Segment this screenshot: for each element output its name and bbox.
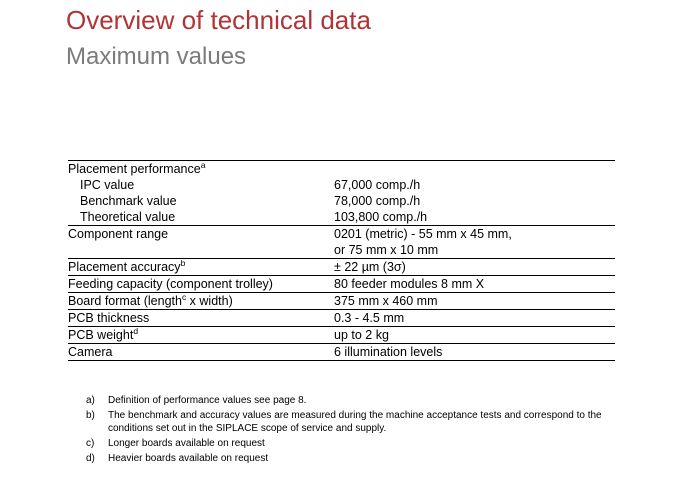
table-cell-value: ± 22 µm (3σ) xyxy=(334,259,615,276)
footnote-marker: c) xyxy=(86,437,108,450)
table-row: PCB thickness 0.3 - 4.5 mm xyxy=(68,310,615,327)
document-page: Overview of technical data Maximum value… xyxy=(0,0,699,487)
row-label-prefix: Board format (length xyxy=(68,294,182,308)
table-cell-value: 0201 (metric) - 55 mm x 45 mm, or 75 mm … xyxy=(334,226,615,259)
row-value: 0201 (metric) - 55 mm x 45 mm, xyxy=(334,226,615,242)
table-row: Board format (lengthc x width) 375 mm x … xyxy=(68,293,615,310)
page-subtitle: Maximum values xyxy=(66,42,626,72)
row-label: Component range xyxy=(68,227,168,241)
table-cell-label: Placement performancea IPC value Benchma… xyxy=(68,161,334,226)
table-row: Feeding capacity (component trolley) 80 … xyxy=(68,276,615,293)
row-label: PCB weight xyxy=(68,328,133,342)
footnote-ref-b: b xyxy=(181,258,186,268)
sub-item-value: 103,800 comp./h xyxy=(334,209,615,225)
row-value: 80 feeder modules 8 mm X xyxy=(334,276,615,292)
footnote-marker: a) xyxy=(86,394,108,407)
table-row: Camera 6 illumination levels xyxy=(68,344,615,361)
table-cell-label: PCB weightd xyxy=(68,327,334,344)
footnotes-block: a) Definition of performance values see … xyxy=(86,394,616,467)
sub-item-label: IPC value xyxy=(68,177,334,193)
table-row: Placement accuracyb ± 22 µm (3σ) xyxy=(68,259,615,276)
row-value-continued: or 75 mm x 10 mm xyxy=(334,242,615,258)
row-value: 375 mm x 460 mm xyxy=(334,293,615,309)
sub-item-label: Benchmark value xyxy=(68,193,334,209)
table-cell-label: Board format (lengthc x width) xyxy=(68,293,334,310)
row-value: 6 illumination levels xyxy=(334,344,615,360)
table-cell-value: 6 illumination levels xyxy=(334,344,615,361)
footnote-text: Heavier boards available on request xyxy=(108,452,616,465)
row-label-suffix: x width) xyxy=(186,294,233,308)
table-cell-value: 0.3 - 4.5 mm xyxy=(334,310,615,327)
row-value: up to 2 kg xyxy=(334,327,615,343)
table-cell-value: up to 2 kg xyxy=(334,327,615,344)
row-value: ± 22 µm (3σ) xyxy=(334,259,615,275)
row-label: PCB thickness xyxy=(68,311,149,325)
table-cell-label: Placement accuracyb xyxy=(68,259,334,276)
table-cell-label: Camera xyxy=(68,344,334,361)
footnote-item: b) The benchmark and accuracy values are… xyxy=(86,409,616,435)
row-value: 0.3 - 4.5 mm xyxy=(334,310,615,326)
footnote-ref-a: a xyxy=(201,160,206,170)
sub-item-value: 67,000 comp./h xyxy=(334,177,615,193)
technical-data-table: Placement performancea IPC value Benchma… xyxy=(68,160,615,361)
footnote-text: Definition of performance values see pag… xyxy=(108,394,616,407)
sub-item-label: Theoretical value xyxy=(68,209,334,225)
footnote-text: Longer boards available on request xyxy=(108,437,616,450)
row-label: Placement accuracy xyxy=(68,260,181,274)
row-label: Placement performance xyxy=(68,162,201,176)
table-cell-value: 67,000 comp./h 78,000 comp./h 103,800 co… xyxy=(334,161,615,226)
table-row: PCB weightd up to 2 kg xyxy=(68,327,615,344)
row-label: Feeding capacity (component trolley) xyxy=(68,277,273,291)
table-row: Component range 0201 (metric) - 55 mm x … xyxy=(68,226,615,259)
footnote-ref-d: d xyxy=(133,326,138,336)
table-cell-label: Component range xyxy=(68,226,334,259)
table-cell-label: PCB thickness xyxy=(68,310,334,327)
footnote-marker: d) xyxy=(86,452,108,465)
footnote-item: c) Longer boards available on request xyxy=(86,437,616,450)
title-block: Overview of technical data Maximum value… xyxy=(66,4,626,72)
row-label: Camera xyxy=(68,345,112,359)
footnote-item: d) Heavier boards available on request xyxy=(86,452,616,465)
footnote-marker: b) xyxy=(86,409,108,435)
table-cell-value: 80 feeder modules 8 mm X xyxy=(334,276,615,293)
footnote-text: The benchmark and accuracy values are me… xyxy=(108,409,616,435)
table-cell-value: 375 mm x 460 mm xyxy=(334,293,615,310)
page-title: Overview of technical data xyxy=(66,4,626,36)
table-cell-label: Feeding capacity (component trolley) xyxy=(68,276,334,293)
table-row: Placement performancea IPC value Benchma… xyxy=(68,161,615,226)
sub-item-value: 78,000 comp./h xyxy=(334,193,615,209)
footnote-item: a) Definition of performance values see … xyxy=(86,394,616,407)
